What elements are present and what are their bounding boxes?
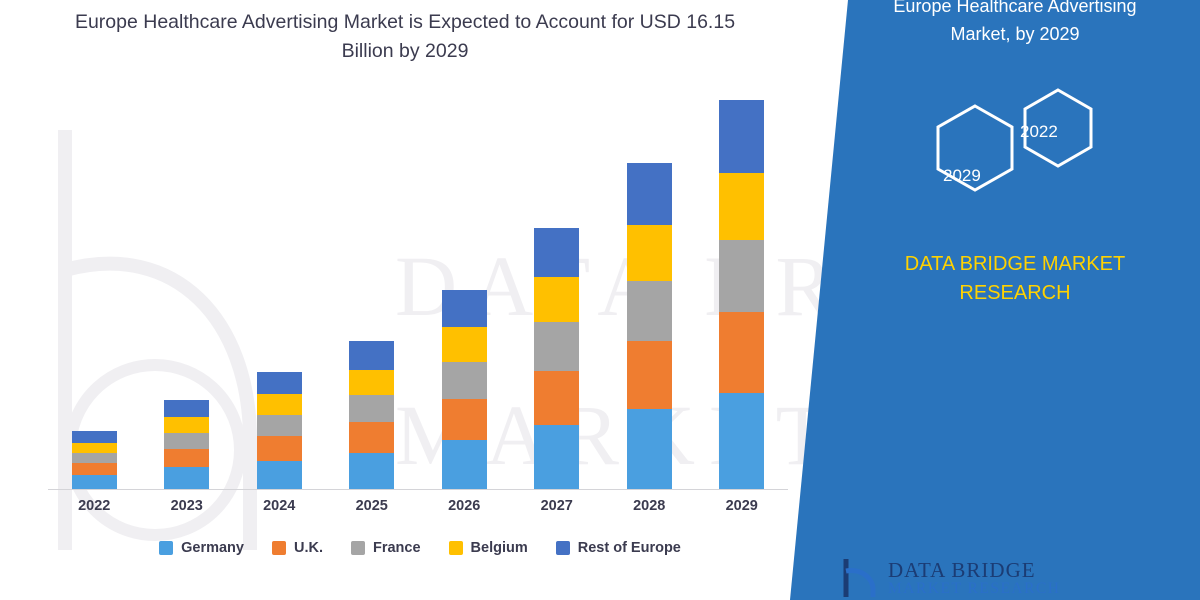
- legend-label: U.K.: [294, 540, 323, 556]
- bar-segment: [442, 440, 487, 489]
- bar-column: [234, 372, 324, 489]
- bar-column: [142, 400, 232, 489]
- bar-segment: [257, 461, 302, 489]
- bar-segment: [719, 312, 764, 393]
- bar-segment: [627, 225, 672, 281]
- legend-label: France: [373, 540, 421, 556]
- legend-label: Belgium: [471, 540, 528, 556]
- legend-item[interactable]: Germany: [159, 540, 244, 556]
- bridge-logo-icon: [840, 557, 878, 599]
- bar-segment: [164, 417, 209, 432]
- bar-segment: [627, 341, 672, 409]
- x-axis-labels: 20222023202420252026202720282029: [48, 498, 788, 514]
- bar-group: [48, 100, 788, 489]
- x-axis-label: 2027: [512, 498, 602, 514]
- side-panel: Europe Healthcare Advertising Market, by…: [790, 0, 1200, 600]
- bar-segment: [257, 372, 302, 394]
- bar-segment: [442, 327, 487, 362]
- logo-line-2: MARKET RESEARCH: [888, 581, 1061, 597]
- bar-segment: [257, 436, 302, 460]
- bar-segment: [349, 422, 394, 453]
- bar-segment: [164, 400, 209, 417]
- bar-column: [49, 431, 139, 489]
- chart-legend: GermanyU.K.FranceBelgiumRest of Europe: [60, 540, 780, 556]
- bar-segment: [534, 371, 579, 425]
- bar-segment: [349, 370, 394, 396]
- legend-swatch: [449, 541, 463, 555]
- bar-segment: [442, 290, 487, 327]
- bar-segment: [257, 415, 302, 437]
- bar-segment: [534, 322, 579, 371]
- bar-segment: [349, 341, 394, 369]
- bar-segment: [349, 453, 394, 489]
- bar-segment: [627, 281, 672, 341]
- legend-label: Germany: [181, 540, 244, 556]
- x-axis-label: 2022: [49, 498, 139, 514]
- x-axis-line: [48, 489, 788, 490]
- x-axis-label: 2026: [419, 498, 509, 514]
- bar-segment: [349, 395, 394, 422]
- x-axis-label: 2025: [327, 498, 417, 514]
- hexagon-icons: [915, 86, 1125, 206]
- x-axis-label: 2028: [604, 498, 694, 514]
- side-panel-title: Europe Healthcare Advertising Market, by…: [830, 0, 1200, 48]
- bar-segment: [164, 433, 209, 450]
- legend-item[interactable]: Rest of Europe: [556, 540, 681, 556]
- legend-swatch: [159, 541, 173, 555]
- bar-segment: [72, 463, 117, 475]
- company-logo: DATA BRIDGE MARKET RESEARCH: [840, 555, 1170, 600]
- bar-segment: [719, 240, 764, 312]
- bar-segment: [627, 409, 672, 489]
- bar-segment: [719, 100, 764, 173]
- legend-item[interactable]: U.K.: [272, 540, 323, 556]
- bar-segment: [534, 277, 579, 322]
- brand-line-2: RESEARCH: [830, 279, 1200, 308]
- hexagon-group: 2029 2022: [915, 86, 1125, 206]
- x-axis-label: 2024: [234, 498, 324, 514]
- bar-segment: [72, 453, 117, 463]
- bar-segment: [442, 362, 487, 399]
- bar-segment: [72, 475, 117, 489]
- infographic-root: DATA BRIDGE MARKET RESEARCH Europe Healt…: [0, 0, 1200, 600]
- chart-container: Europe Healthcare Advertising Market is …: [0, 0, 830, 600]
- x-axis-label: 2023: [142, 498, 232, 514]
- bar-segment: [72, 431, 117, 443]
- bar-column: [419, 290, 509, 489]
- side-panel-content: Europe Healthcare Advertising Market, by…: [830, 0, 1200, 600]
- bar-segment: [534, 228, 579, 277]
- bar-column: [327, 341, 417, 489]
- side-panel-title-line-1: Europe Healthcare Advertising: [830, 0, 1200, 20]
- bar-column: [697, 100, 787, 489]
- bar-segment: [257, 394, 302, 415]
- bar-segment: [719, 393, 764, 489]
- logo-line-1: DATA BRIDGE: [888, 559, 1061, 581]
- bar-segment: [719, 173, 764, 240]
- legend-swatch: [351, 541, 365, 555]
- hex-label-2022: 2022: [1020, 122, 1058, 142]
- legend-item[interactable]: Belgium: [449, 540, 528, 556]
- plot-area: [48, 100, 788, 490]
- legend-item[interactable]: France: [351, 540, 421, 556]
- side-panel-title-line-2: Market, by 2029: [830, 20, 1200, 48]
- bar-segment: [164, 449, 209, 467]
- x-axis-label: 2029: [697, 498, 787, 514]
- hex-label-2029: 2029: [943, 166, 981, 186]
- legend-swatch: [556, 541, 570, 555]
- bar-column: [512, 228, 602, 489]
- bar-segment: [164, 467, 209, 489]
- legend-label: Rest of Europe: [578, 540, 681, 556]
- bar-segment: [627, 163, 672, 225]
- legend-swatch: [272, 541, 286, 555]
- bar-segment: [442, 399, 487, 440]
- brand-name: DATA BRIDGE MARKET RESEARCH: [830, 250, 1200, 308]
- bar-column: [604, 163, 694, 489]
- logo-text: DATA BRIDGE MARKET RESEARCH: [888, 559, 1061, 597]
- chart-title: Europe Healthcare Advertising Market is …: [55, 8, 755, 66]
- bar-segment: [72, 443, 117, 453]
- brand-line-1: DATA BRIDGE MARKET: [830, 250, 1200, 279]
- bar-segment: [534, 425, 579, 489]
